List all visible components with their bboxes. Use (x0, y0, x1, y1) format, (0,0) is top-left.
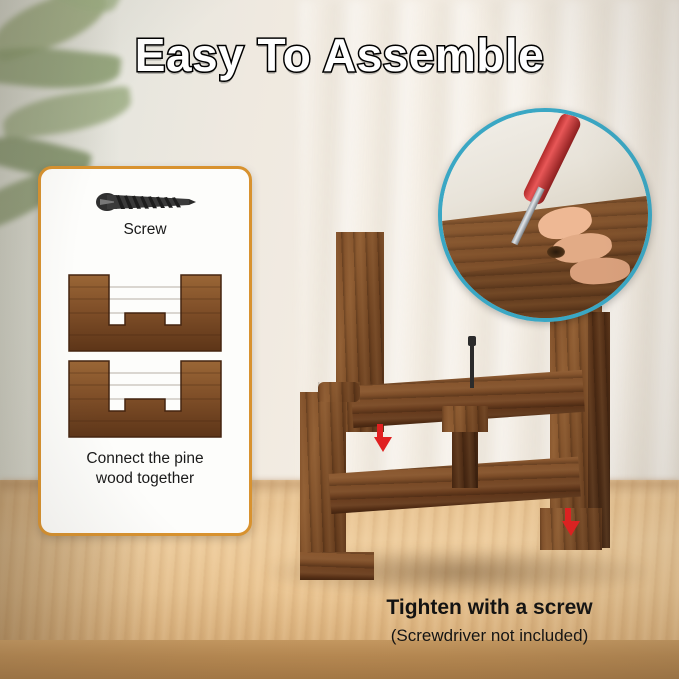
bracket-caption-line2: wood together (96, 470, 194, 487)
stand-joint-cap (442, 406, 488, 432)
caption-secondary: (Screwdriver not included) (300, 626, 679, 646)
screw-label: Screw (41, 221, 249, 239)
stand-front-left-post-top (318, 382, 360, 402)
u-bracket-icon (65, 273, 225, 353)
bracket-caption-line1: Connect the pine (86, 450, 203, 467)
info-card: Screw Connect the pine wood togeth (38, 166, 252, 536)
caption-primary: Tighten with a screw (300, 596, 679, 620)
screw-icon (93, 189, 197, 215)
stand-left-foot (300, 552, 374, 580)
page-title: Easy To Assemble (0, 28, 679, 82)
bracket-caption: Connect the pine wood together (41, 449, 249, 489)
u-bracket-icon-2 (65, 359, 225, 439)
screenshot-root: Easy To Assemble Screw (0, 0, 679, 679)
screwdriver-closeup-photo (438, 108, 652, 322)
screw-hole (547, 246, 565, 258)
